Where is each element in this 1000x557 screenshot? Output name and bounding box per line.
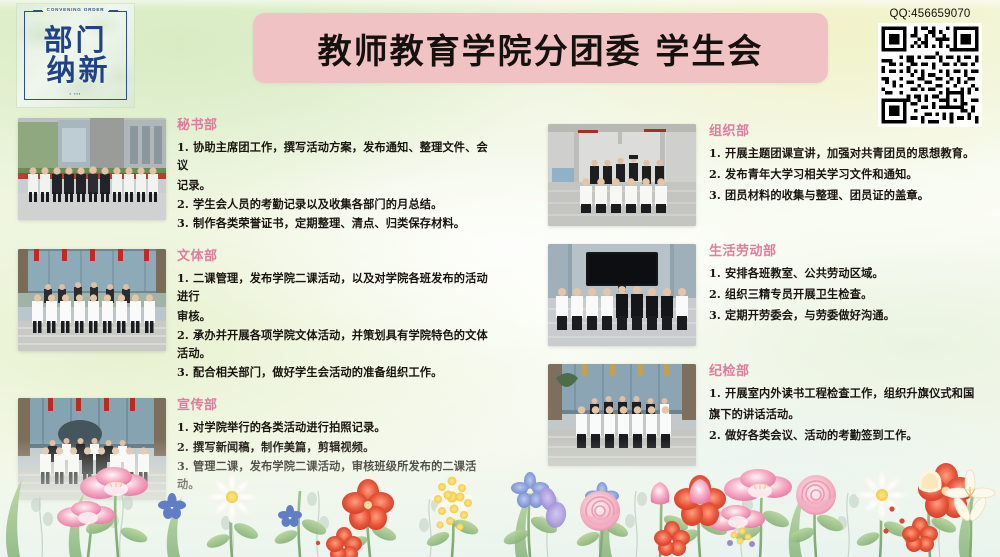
top-sheen (0, 0, 1000, 10)
dept-duty: 2. 承办并开展各项学院文体活动，并策划具有学院特色的文体活动。 (177, 326, 498, 362)
dept-duty: 3. 团员材料的收集与整理、团员证的盖章。 (709, 186, 1000, 206)
dept-column-left: 秘书部 1. 协助主席团工作，撰写活动方案，发布通知、整理文件、会议 记录。 2… (18, 118, 498, 516)
dept-card-publicity: 宣传部 1. 对学院举行的各类活动进行拍照记录。 2. 撰写新闻稿，制作美篇，剪… (18, 398, 498, 500)
dept-title: 纪检部 (709, 365, 1000, 379)
dept-card-secretariat: 秘书部 1. 协助主席团工作，撰写活动方案，发布通知、整理文件、会议 记录。 2… (18, 118, 498, 233)
dept-duty: 1. 开展室内外读书工程检查工作，组织升旗仪式和国 (709, 384, 1000, 404)
dept-duty: 2. 发布青年大学习相关学习文件和通知。 (709, 165, 1000, 185)
dept-duty: 2. 撰写新闻稿，制作美篇，剪辑视频。 (177, 438, 498, 456)
dept-duty: 3. 定期开劳委会，与劳委做好沟通。 (709, 306, 1000, 326)
dept-title: 文体部 (177, 250, 498, 264)
dept-duty: 记录。 (177, 176, 498, 194)
dept-duty: 2. 组织三精专员开展卫生检查。 (709, 285, 1000, 305)
dept-photo-secretariat (18, 118, 166, 220)
dept-text-publicity: 宣传部 1. 对学院举行的各类活动进行拍照记录。 2. 撰写新闻稿，制作美篇，剪… (166, 398, 498, 494)
dept-text-culture-sports: 文体部 1. 二课管理，发布学院二课活动，以及对学院各班发布的活动进行 审核。 … (166, 249, 498, 382)
dept-duty: 2. 做好各类会议、活动的考勤签到工作。 (709, 426, 1000, 446)
logo-frame: CONVENING ORDER 部门 纳新 ▪ ▪▪▪ (24, 11, 127, 100)
logo-dots: ▪ ▪▪▪ (70, 91, 82, 96)
dept-photo-organization (548, 124, 696, 226)
dept-photo-culture-sports (18, 249, 166, 351)
dept-card-life-labor: 生活劳动部 1. 安排各班教室、公共劳动区域。 2. 组织三精专员开展卫生检查。… (548, 244, 1000, 346)
dept-column-right: 组织部 1. 开展主题团课宣讲，加强对共青团员的思想教育。 2. 发布青年大学习… (548, 118, 1000, 484)
dept-title: 生活劳动部 (709, 245, 1000, 259)
page-title: 教师教育学院分团委 学生会 (318, 24, 764, 73)
dept-duty: 1. 对学院举行的各类活动进行拍照记录。 (177, 418, 498, 436)
qr-block: QQ:456659070 (869, 8, 991, 128)
dept-duty: 1. 二课管理，发布学院二课活动，以及对学院各班发布的活动进行 (177, 269, 498, 305)
dept-text-discipline: 纪检部 1. 开展室内外读书工程检查工作，组织升旗仪式和国 旗下的讲话活动。 2… (696, 364, 1000, 447)
qq-number-label: QQ:456659070 (869, 8, 991, 21)
dept-duty: 1. 协助主席团工作，撰写活动方案，发布通知、整理文件、会议 (177, 138, 498, 174)
logo-line-1: 部门 (43, 26, 107, 55)
dept-photo-discipline (548, 364, 696, 466)
dept-duty: 3. 配合相关部门，做好学生会活动的准备组织工作。 (177, 363, 498, 381)
dept-title: 宣传部 (177, 399, 498, 413)
dept-text-life-labor: 生活劳动部 1. 安排各班教室、公共劳动区域。 2. 组织三精专员开展卫生检查。… (696, 244, 1000, 327)
logo-badge: CONVENING ORDER 部门 纳新 ▪ ▪▪▪ (17, 4, 134, 107)
dept-title: 秘书部 (177, 119, 498, 133)
logo-line-2: 纳新 (46, 56, 110, 85)
dept-duty: 2. 学生会人员的考勤记录以及收集各部门的月总结。 (177, 195, 498, 213)
dept-title: 组织部 (709, 125, 1000, 139)
dept-duty: 3. 管理二课，发布学院二课活动，审核班级所发布的二课活动。 (177, 457, 498, 493)
dept-duty: 1. 安排各班教室、公共劳动区域。 (709, 264, 1000, 284)
dept-duty: 3. 制作各类荣誉证书，定期整理、清点、归类保存材料。 (177, 214, 498, 232)
title-banner: 教师教育学院分团委 学生会 (253, 13, 828, 83)
dept-photo-life-labor (548, 244, 696, 346)
dept-duty: 审核。 (177, 307, 498, 325)
dept-text-organization: 组织部 1. 开展主题团课宣讲，加强对共青团员的思想教育。 2. 发布青年大学习… (696, 124, 1000, 207)
dept-card-organization: 组织部 1. 开展主题团课宣讲，加强对共青团员的思想教育。 2. 发布青年大学习… (548, 124, 1000, 226)
qr-code-icon[interactable] (878, 23, 982, 127)
dept-card-culture-sports: 文体部 1. 二课管理，发布学院二课活动，以及对学院各班发布的活动进行 审核。 … (18, 249, 498, 382)
poster-canvas: CONVENING ORDER 部门 纳新 ▪ ▪▪▪ 教师教育学院分团委 学生… (0, 0, 1000, 557)
dept-text-secretariat: 秘书部 1. 协助主席团工作，撰写活动方案，发布通知、整理文件、会议 记录。 2… (166, 118, 498, 233)
logo-characters: 部门 纳新 (25, 12, 126, 99)
dept-duty: 旗下的讲话活动。 (709, 405, 1000, 425)
dept-card-discipline: 纪检部 1. 开展室内外读书工程检查工作，组织升旗仪式和国 旗下的讲话活动。 2… (548, 364, 1000, 466)
dept-photo-publicity (18, 398, 166, 500)
dept-duty: 1. 开展主题团课宣讲，加强对共青团员的思想教育。 (709, 144, 1000, 164)
